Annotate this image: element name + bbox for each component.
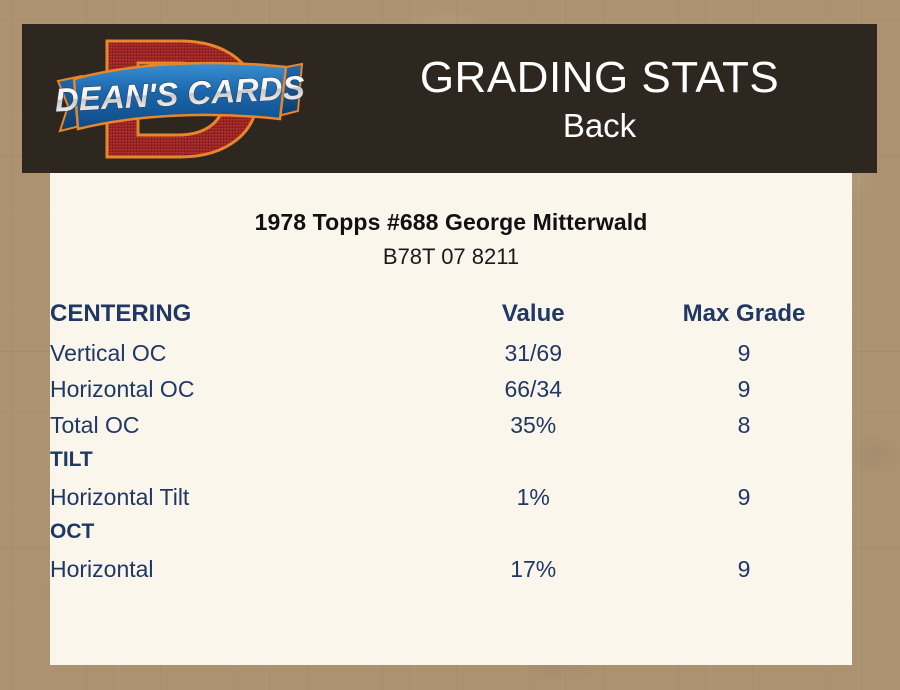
table-row: Vertical OC 31/69 9 xyxy=(50,340,852,376)
table-row: Horizontal OC 66/34 9 xyxy=(50,376,852,412)
row-label: Total OC xyxy=(50,412,430,448)
header-title-group: GRADING STATS Back xyxy=(322,24,877,173)
page-subtitle: Back xyxy=(563,106,636,146)
row-grade: 9 xyxy=(636,484,852,520)
logo-graphic: DEAN'S CARDS xyxy=(52,29,307,169)
section-title: TILT xyxy=(50,448,430,484)
header-bar: DEAN'S CARDS GRADING STATS Back xyxy=(22,24,877,173)
row-value: 66/34 xyxy=(430,376,636,412)
section-header-row: TILT xyxy=(50,448,852,484)
section-spacer-grade xyxy=(636,448,852,484)
row-grade: 9 xyxy=(636,340,852,376)
table-row: Horizontal Tilt 1% 9 xyxy=(50,484,852,520)
section-header-row: OCT xyxy=(50,520,852,556)
row-label: Horizontal OC xyxy=(50,376,430,412)
deans-cards-logo[interactable]: DEAN'S CARDS xyxy=(52,29,307,169)
table-header-row: CENTERING Value Max Grade xyxy=(50,300,852,340)
content-panel: 1978 Topps #688 George Mitterwald B78T 0… xyxy=(50,173,852,665)
section-spacer-value xyxy=(430,448,636,484)
section-title: OCT xyxy=(50,520,430,556)
row-value: 35% xyxy=(430,412,636,448)
grading-stats-table: CENTERING Value Max Grade Vertical OC 31… xyxy=(50,300,852,592)
row-value: 17% xyxy=(430,556,636,592)
column-header-value: Value xyxy=(430,300,636,340)
row-label: Vertical OC xyxy=(50,340,430,376)
row-grade: 9 xyxy=(636,376,852,412)
page-title: GRADING STATS xyxy=(420,52,779,104)
section-spacer-grade xyxy=(636,520,852,556)
row-grade-flagged: 8 xyxy=(636,412,852,448)
row-label: Horizontal Tilt xyxy=(50,484,430,520)
table-row: Horizontal 17% 9 xyxy=(50,556,852,592)
row-value: 31/69 xyxy=(430,340,636,376)
row-value: 1% xyxy=(430,484,636,520)
card-title: 1978 Topps #688 George Mitterwald xyxy=(50,209,852,236)
section-spacer-value xyxy=(430,520,636,556)
column-header-max-grade: Max Grade xyxy=(636,300,852,340)
card-code: B78T 07 8211 xyxy=(50,244,852,270)
table-row: Total OC 35% 8 xyxy=(50,412,852,448)
row-grade: 9 xyxy=(636,556,852,592)
row-label: Horizontal xyxy=(50,556,430,592)
column-header-centering: CENTERING xyxy=(50,300,430,340)
